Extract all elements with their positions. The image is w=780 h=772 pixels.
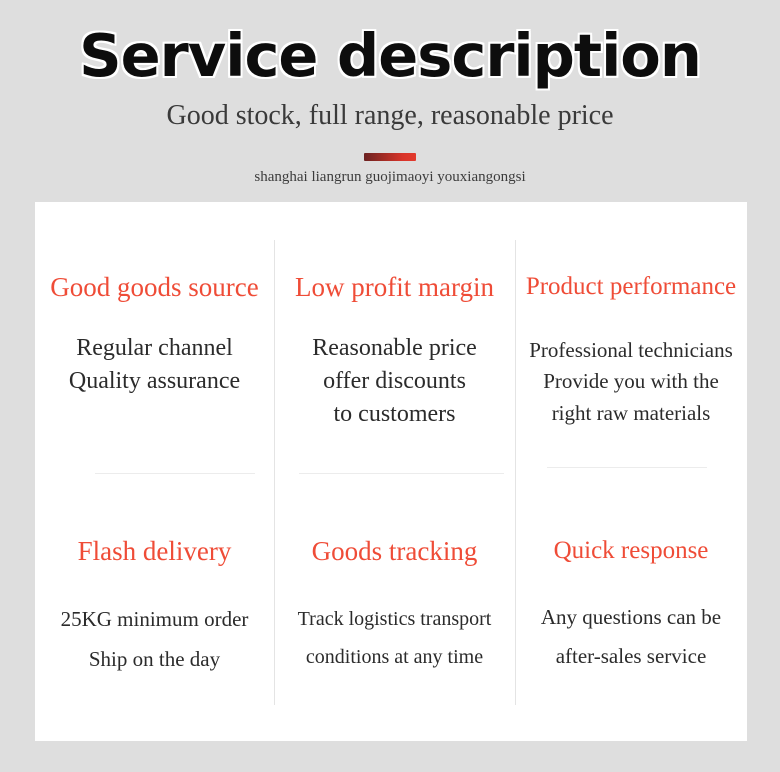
service-cell-body: Regular channel Quality assurance xyxy=(69,332,240,398)
cell-divider-line xyxy=(547,467,707,468)
service-cell-line: Ship on the day xyxy=(61,640,249,680)
page-header: Service description Good stock, full ran… xyxy=(0,0,780,185)
service-cell-body: Reasonable price offer discounts to cust… xyxy=(312,332,477,431)
service-cell-body: Track logistics transport conditions at … xyxy=(298,600,492,676)
service-cell-title: Quick response xyxy=(554,537,709,565)
service-cell-good-goods-source: Good goods source Regular channel Qualit… xyxy=(35,202,274,480)
service-cell-title: Goods tracking xyxy=(312,537,478,567)
service-cell-line: Any questions can be xyxy=(541,598,721,638)
service-cell-line: after-sales service xyxy=(541,637,721,677)
service-cell-line: right raw materials xyxy=(529,398,733,430)
service-row-bottom: Flash delivery 25KG minimum order Ship o… xyxy=(35,480,747,741)
red-divider-bar xyxy=(364,153,416,161)
service-cell-goods-tracking: Goods tracking Track logistics transport… xyxy=(274,480,515,741)
service-cell-title: Product performance xyxy=(526,273,736,301)
page-subtitle: Good stock, full range, reasonable price xyxy=(0,101,780,132)
service-cell-low-profit-margin: Low profit margin Reasonable price offer… xyxy=(274,202,515,480)
service-row-top: Good goods source Regular channel Qualit… xyxy=(35,202,747,480)
service-cell-line: conditions at any time xyxy=(298,638,492,676)
service-panel: Good goods source Regular channel Qualit… xyxy=(35,202,747,741)
service-cell-body: Any questions can be after-sales service xyxy=(541,598,721,678)
service-cell-title: Good goods source xyxy=(50,273,258,303)
service-cell-body: 25KG minimum order Ship on the day xyxy=(61,600,249,680)
service-cell-flash-delivery: Flash delivery 25KG minimum order Ship o… xyxy=(35,480,274,741)
service-cell-line: Provide you with the xyxy=(529,366,733,398)
service-cell-line: to customers xyxy=(312,398,477,431)
service-cell-line: Professional technicians xyxy=(529,335,733,367)
service-cell-title: Flash delivery xyxy=(78,537,232,567)
service-cell-quick-response: Quick response Any questions can be afte… xyxy=(515,480,747,741)
service-cell-product-performance: Product performance Professional technic… xyxy=(515,202,747,480)
cell-divider-line xyxy=(299,473,504,474)
cell-divider-line xyxy=(95,473,255,474)
service-cell-title: Low profit margin xyxy=(295,273,494,303)
service-cell-line: Quality assurance xyxy=(69,365,240,398)
page-title: Service description xyxy=(0,26,780,85)
service-cell-line: Reasonable price xyxy=(312,332,477,365)
service-cell-line: offer discounts xyxy=(312,365,477,398)
service-cell-line: Track logistics transport xyxy=(298,600,492,638)
service-cell-body: Professional technicians Provide you wit… xyxy=(529,335,733,430)
company-name: shanghai liangrun guojimaoyi youxiangong… xyxy=(0,169,780,186)
service-cell-line: 25KG minimum order xyxy=(61,600,249,640)
service-cell-line: Regular channel xyxy=(69,332,240,365)
